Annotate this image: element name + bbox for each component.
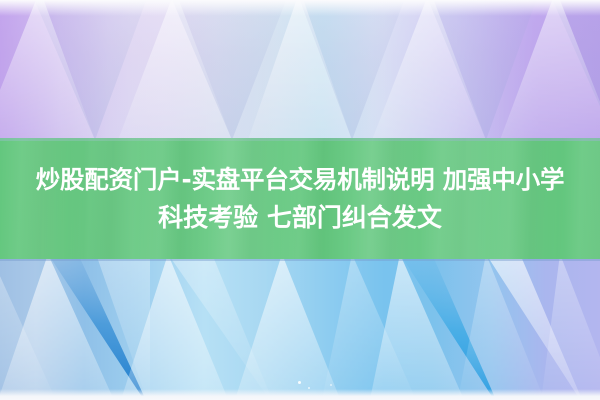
- bottom-chevron-panel: [0, 259, 600, 400]
- bottom-highlight-strip: [0, 389, 600, 400]
- top-gradient-panel: [0, 0, 600, 140]
- sparkle-dot: [330, 384, 332, 386]
- sparkle-dot: [298, 381, 301, 384]
- banner-image: 炒股配资门户-实盘平台交易机制说明 加强中小学 科技考验 七部门纠合发文: [0, 0, 600, 400]
- title-line-2: 科技考验 七部门纠合发文: [158, 199, 442, 237]
- title-line-1: 炒股配资门户-实盘平台交易机制说明 加强中小学: [36, 161, 565, 199]
- top-highlight-strip: [0, 0, 600, 16]
- banner-title: 炒股配资门户-实盘平台交易机制说明 加强中小学 科技考验 七部门纠合发文: [0, 138, 600, 259]
- top-chevron-pattern: [0, 0, 600, 140]
- bottom-panel-top-edge: [0, 259, 600, 261]
